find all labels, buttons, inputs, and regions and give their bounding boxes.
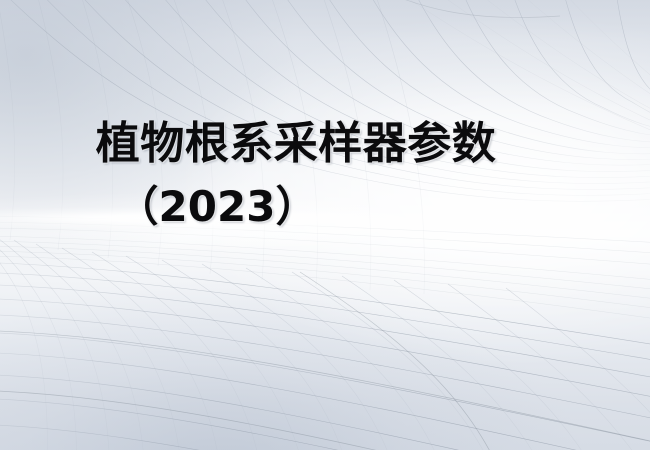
slide-title-line-1: 植物根系采样器参数	[0, 116, 616, 172]
title-slide: 植物根系采样器参数 （2023）	[0, 0, 650, 450]
slide-title: 植物根系采样器参数 （2023）	[0, 116, 650, 234]
slide-title-line-2: （2023）	[0, 180, 616, 234]
background-top-band	[0, 0, 650, 110]
